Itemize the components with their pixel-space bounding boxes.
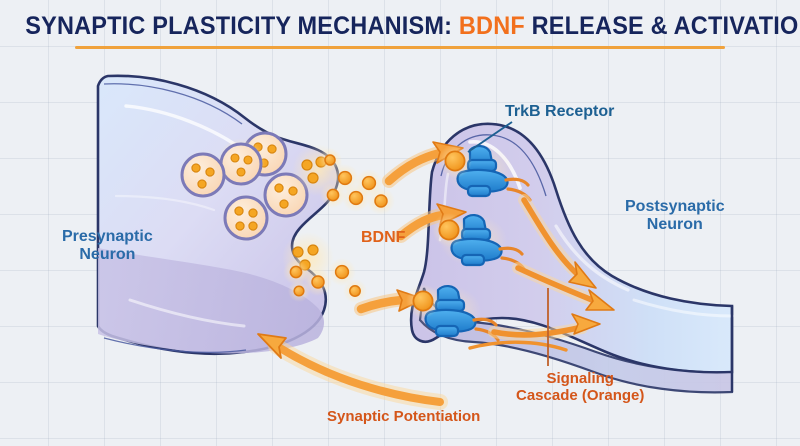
synaptic-vesicle: [178, 150, 228, 200]
label-synaptic-potentiation: Synaptic Potentiation: [327, 408, 480, 425]
title-underline-rule: [75, 46, 725, 49]
label-postsynaptic-line2: Neuron: [625, 216, 725, 234]
label-presynaptic-neuron: Presynaptic Neuron: [62, 228, 153, 265]
title-suffix: RELEASE & ACTIVATION: [525, 12, 800, 40]
bdnf-molecule: [312, 276, 324, 288]
title-prefix: SYNAPTIC PLASTICITY MECHANISM:: [25, 12, 459, 40]
synaptic-potentiation-arrow: [258, 334, 440, 402]
bdnf-molecule: [294, 286, 304, 296]
label-trkb-receptor: TrkB Receptor: [505, 103, 614, 121]
bdnf-molecule: [336, 266, 349, 279]
bdnf-molecule: [350, 192, 363, 205]
bdnf-molecule: [325, 155, 335, 165]
bdnf-molecule: [290, 266, 301, 277]
bdnf-molecule: [327, 189, 338, 200]
label-presynaptic-line1: Presynaptic: [62, 228, 153, 246]
title-block: SYNAPTIC PLASTICITY MECHANISM: BDNF RELE…: [0, 12, 800, 41]
bdnf-molecule: [375, 195, 387, 207]
bdnf-molecule: [339, 172, 352, 185]
label-postsynaptic-neuron: Postsynaptic Neuron: [625, 198, 725, 235]
diagram-canvas: SYNAPTIC PLASTICITY MECHANISM: BDNF RELE…: [0, 0, 800, 446]
bound-bdnf-ligand: [439, 220, 458, 239]
presynaptic-neuron: [98, 76, 338, 354]
page-title: SYNAPTIC PLASTICITY MECHANISM: BDNF RELE…: [25, 12, 800, 41]
label-signaling-cascade-line1: Signaling: [516, 370, 644, 387]
label-postsynaptic-line1: Postsynaptic: [625, 198, 725, 216]
synaptic-vesicle: [221, 193, 271, 243]
label-bdnf: BDNF: [361, 229, 405, 247]
bdnf-molecule: [350, 286, 360, 296]
label-signaling-cascade-line2: Cascade (Orange): [516, 387, 644, 404]
bound-bdnf-ligand: [413, 291, 432, 310]
bound-bdnf-ligand: [445, 151, 464, 170]
label-signaling-cascade: Signaling Cascade (Orange): [516, 370, 644, 405]
label-presynaptic-line2: Neuron: [62, 246, 153, 264]
title-highlight: BDNF: [459, 12, 525, 40]
